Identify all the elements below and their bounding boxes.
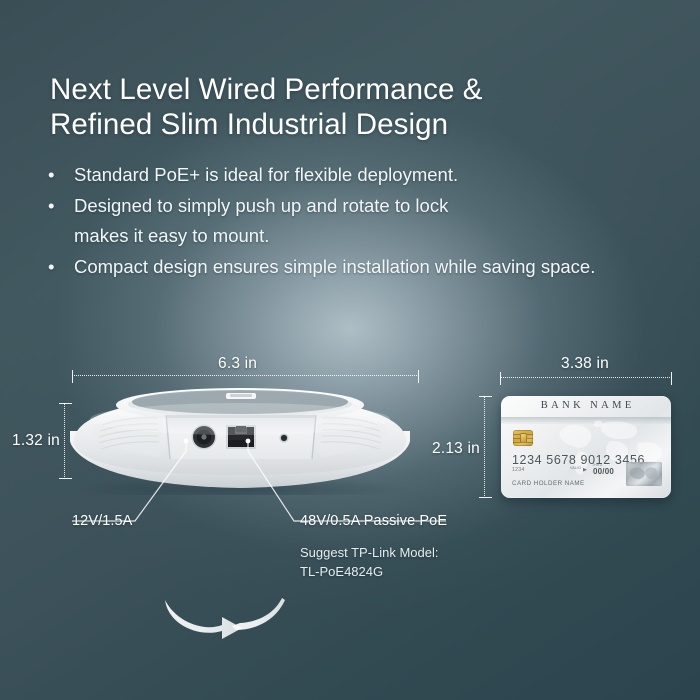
ceiling-access-point-image <box>60 385 420 495</box>
bullet-spacer <box>48 221 61 252</box>
suggested-model-line-2: TL-PoE4824G <box>300 562 383 581</box>
callout-poe-label: 48V/0.5A Passive PoE <box>300 513 447 529</box>
emv-chip-icon <box>513 430 533 446</box>
list-item: • Designed to simply push up and rotate … <box>48 191 663 222</box>
card-expiry: 00/00 <box>593 467 614 476</box>
page-title: Next Level Wired Performance & Refined S… <box>50 72 650 142</box>
feature-bullet-list: • Standard PoE+ is ideal for flexible de… <box>48 160 663 282</box>
bullet-dot-icon: • <box>48 191 61 222</box>
bullet-text: Standard PoE+ is ideal for flexible depl… <box>61 160 458 191</box>
product-feature-slide: Next Level Wired Performance & Refined S… <box>0 0 700 700</box>
list-item: • Standard PoE+ is ideal for flexible de… <box>48 160 663 191</box>
card-height-dimension-label: 2.13 in <box>432 440 480 458</box>
headline-line-2: Refined Slim Industrial Design <box>50 107 650 142</box>
bank-card-size-reference: BANK NAME 1234 5678 9012 3456 1234 VALID… <box>501 396 671 498</box>
card-width-dimension-line <box>500 377 672 378</box>
card-hologram <box>626 462 662 486</box>
card-valid-label: VALID <box>570 466 581 470</box>
device-width-dimension-label: 6.3 in <box>218 355 257 373</box>
bullet-dot-icon: • <box>48 252 61 283</box>
card-valid-arrow-icon: ▶ <box>583 467 587 473</box>
list-item: • Compact design ensures simple installa… <box>48 252 663 283</box>
card-bank-name: BANK NAME <box>501 400 671 411</box>
bullet-dot-icon: • <box>48 160 61 191</box>
device-width-dimension-line <box>72 375 419 376</box>
card-holder-name: CARD HOLDER NAME <box>512 480 585 487</box>
device-height-dimension-label: 1.32 in <box>12 432 60 450</box>
bullet-text: Compact design ensures simple installati… <box>61 252 595 283</box>
rotate-to-lock-arrow-icon <box>160 592 290 652</box>
card-width-dimension-label: 3.38 in <box>561 355 609 373</box>
headline-line-1: Next Level Wired Performance & <box>50 72 650 107</box>
card-height-dimension-line <box>484 396 485 498</box>
bullet-text: Designed to simply push up and rotate to… <box>61 191 448 222</box>
card-number-small: 1234 <box>512 467 525 473</box>
list-item-continuation: makes it easy to mount. <box>48 221 663 252</box>
suggested-model-line-1: Suggest TP-Link Model: <box>300 543 439 562</box>
bullet-text: makes it easy to mount. <box>61 221 269 252</box>
callout-dc-power-label: 12V/1.5A <box>72 513 132 529</box>
